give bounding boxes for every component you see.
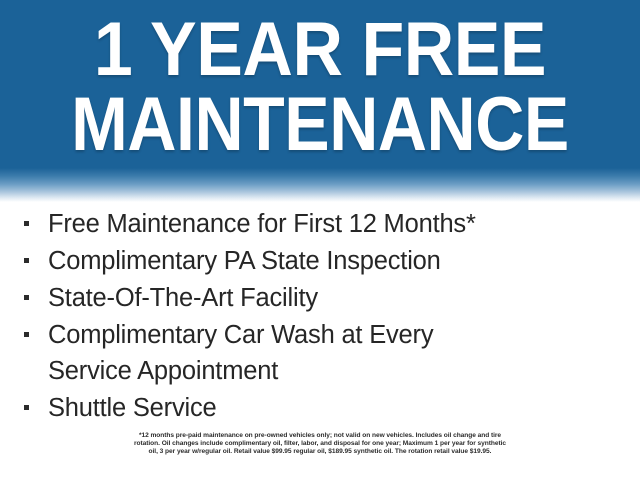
list-item: Shuttle Service <box>0 390 640 426</box>
disclaimer: *12 months pre-paid maintenance on pre-o… <box>0 432 640 457</box>
list-item: Complimentary PA State Inspection <box>0 243 640 279</box>
square-bullet-icon <box>24 332 29 337</box>
disclaimer-line-1: *12 months pre-paid maintenance on pre-o… <box>18 432 622 440</box>
list-item: Complimentary Car Wash at Every Service … <box>0 317 640 389</box>
disclaimer-line-2: rotation. Oil changes include compliment… <box>18 440 622 448</box>
banner-gradient-fade <box>0 168 640 202</box>
benefit-label: Shuttle Service <box>48 390 640 426</box>
square-bullet-icon <box>24 221 29 226</box>
benefits-list: Free Maintenance for First 12 Months* Co… <box>0 206 640 427</box>
promo-banner: 1 YEAR FREE MAINTENANCE <box>0 0 640 202</box>
benefit-label: Free Maintenance for First 12 Months* <box>48 206 640 242</box>
list-item: Free Maintenance for First 12 Months* <box>0 206 640 242</box>
disclaimer-line-3: oil, 3 per year w/regular oil. Retail va… <box>18 448 622 456</box>
square-bullet-icon <box>24 405 29 410</box>
benefit-label: Complimentary PA State Inspection <box>48 243 640 279</box>
benefit-label: State-Of-The-Art Facility <box>48 280 640 316</box>
square-bullet-icon <box>24 258 29 263</box>
list-item: State-Of-The-Art Facility <box>0 280 640 316</box>
headline-line-2: MAINTENANCE <box>34 89 607 162</box>
headline: 1 YEAR FREE MAINTENANCE <box>0 0 640 162</box>
benefit-label: Complimentary Car Wash at Every Service … <box>48 317 640 389</box>
headline-line-1: 1 YEAR FREE <box>26 14 615 87</box>
square-bullet-icon <box>24 295 29 300</box>
